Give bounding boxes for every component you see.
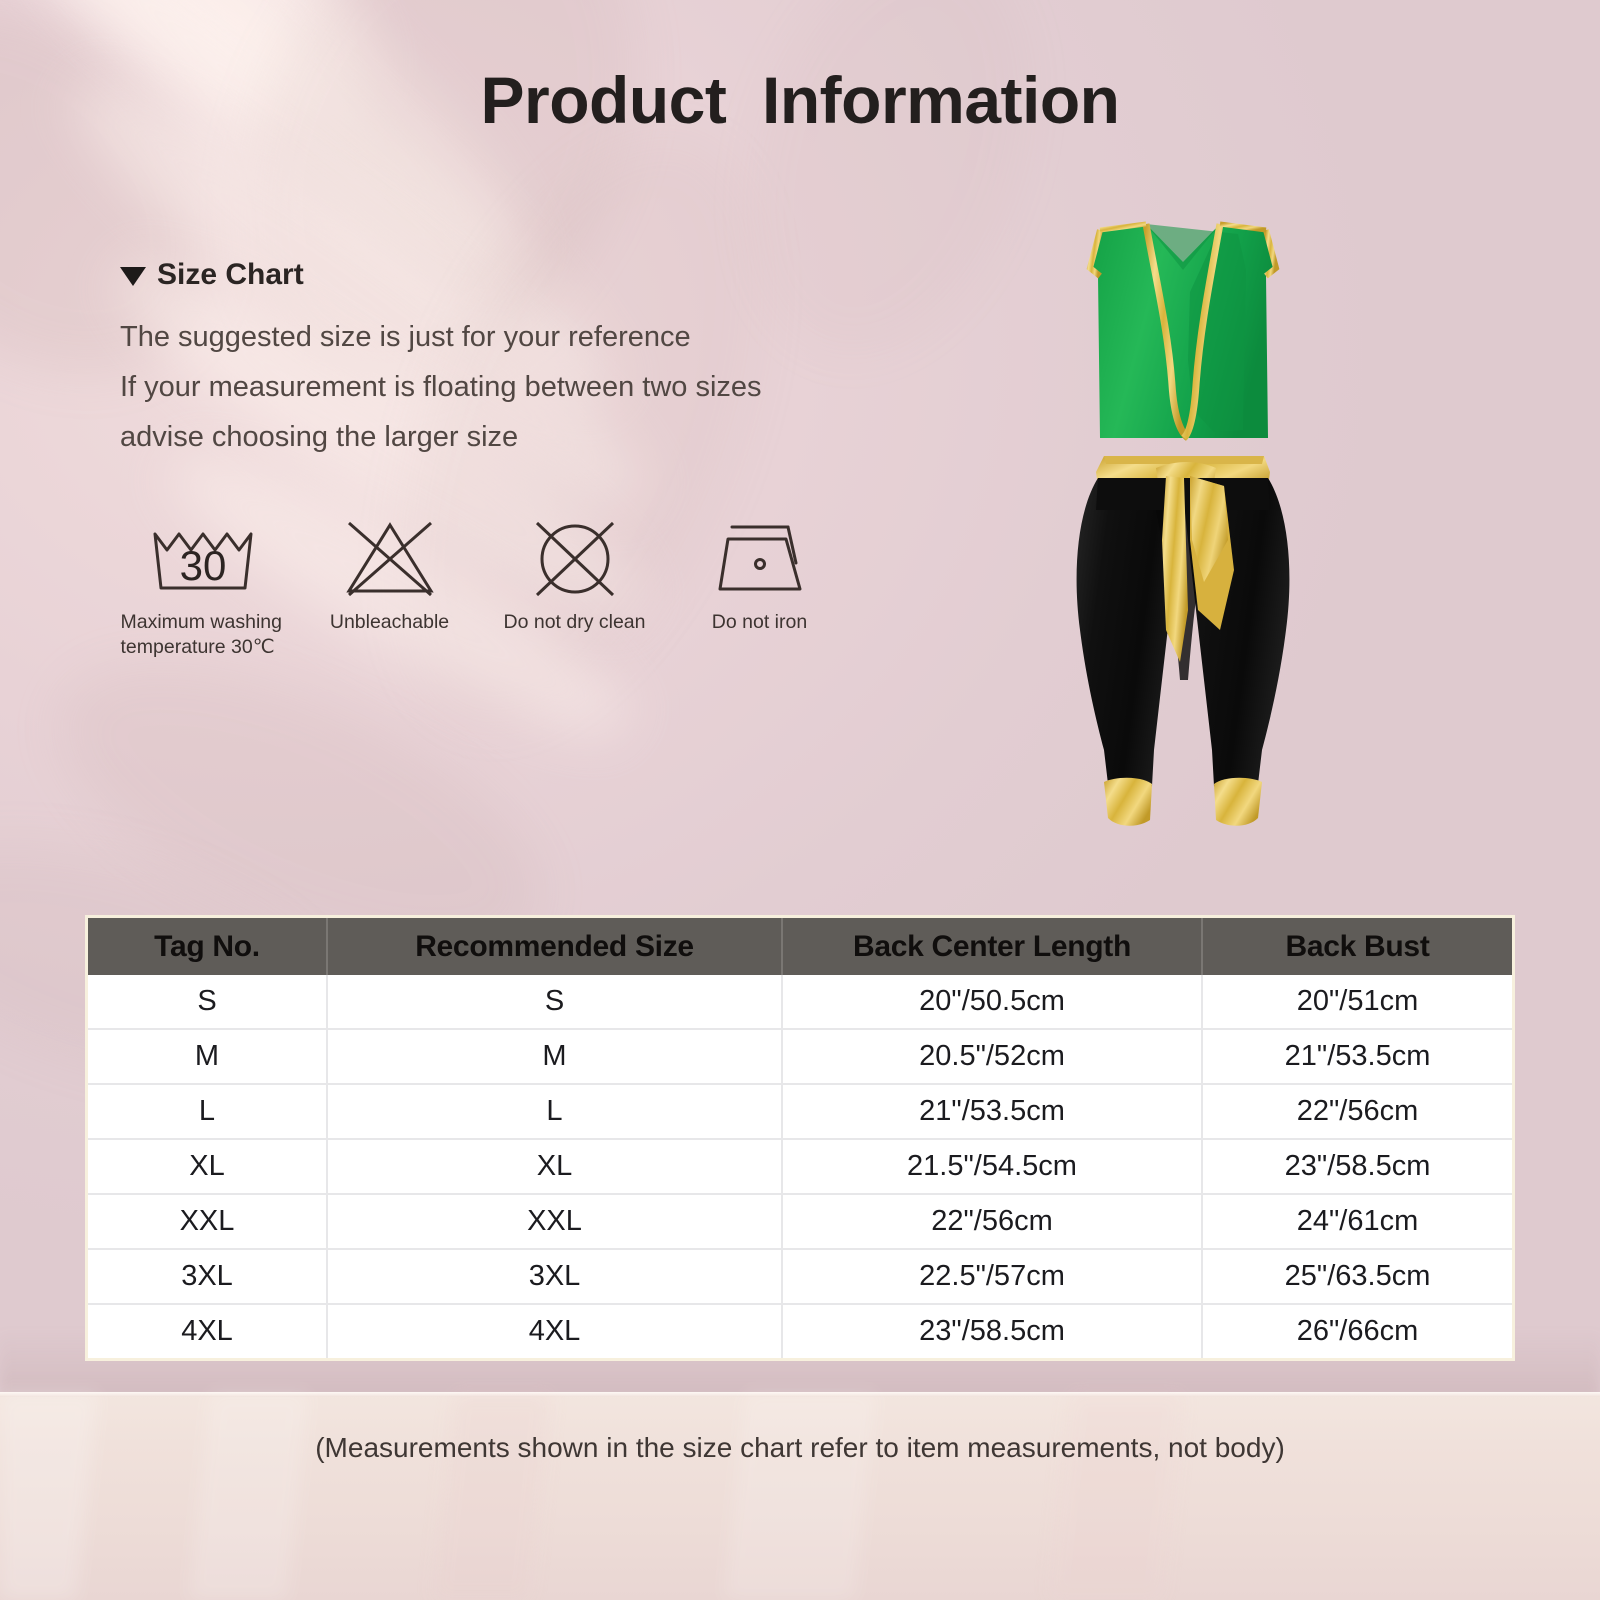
cell-recommended-size: L — [327, 1084, 782, 1139]
column-header-back-bust: Back Bust — [1202, 918, 1512, 975]
cell-recommended-size: XL — [327, 1139, 782, 1194]
care-symbol-label: Unbleachable — [330, 610, 449, 635]
care-symbol-label: Maximum washing temperature 30℃ — [121, 610, 289, 660]
cell-back-bust: 26"/66cm — [1202, 1304, 1512, 1358]
size-chart-notes: The suggested size is just for your refe… — [120, 312, 762, 462]
cell-tag-no: XL — [88, 1139, 327, 1194]
care-symbol-label: Do not dry clean — [504, 610, 646, 635]
column-header-recommended-size: Recommended Size — [327, 918, 782, 975]
cell-recommended-size: XXL — [327, 1194, 782, 1249]
cell-back-center-length: 21.5"/54.5cm — [782, 1139, 1202, 1194]
care-symbol-no-iron: Do not iron — [667, 512, 852, 635]
cell-back-center-length: 20"/50.5cm — [782, 975, 1202, 1029]
wash-tub-30-icon: 30 — [147, 512, 263, 604]
measurement-disclaimer: (Measurements shown in the size chart re… — [0, 1432, 1600, 1464]
no-bleach-triangle-icon — [335, 512, 445, 604]
costume-vest — [1088, 224, 1276, 438]
cell-tag-no: S — [88, 975, 327, 1029]
surface-texture — [0, 1392, 1600, 1600]
size-chart-table: Tag No. Recommended Size Back Center Len… — [88, 918, 1512, 1358]
care-symbol-no-dry-clean: Do not dry clean — [482, 512, 667, 635]
cell-recommended-size: M — [327, 1029, 782, 1084]
no-dry-clean-circle-icon — [523, 512, 627, 604]
cell-back-center-length: 22"/56cm — [782, 1194, 1202, 1249]
table-row: M M 20.5"/52cm 21"/53.5cm — [88, 1029, 1512, 1084]
cell-recommended-size: 3XL — [327, 1249, 782, 1304]
table-row: 4XL 4XL 23"/58.5cm 26"/66cm — [88, 1304, 1512, 1358]
note-line: advise choosing the larger size — [120, 412, 762, 462]
note-line: The suggested size is just for your refe… — [120, 312, 762, 362]
cell-tag-no: 3XL — [88, 1249, 327, 1304]
product-information-page: Product Information Size Chart The sugge… — [0, 0, 1600, 1600]
cell-tag-no: L — [88, 1084, 327, 1139]
cell-back-bust: 23"/58.5cm — [1202, 1139, 1512, 1194]
cell-recommended-size: S — [327, 975, 782, 1029]
costume-ankle-cuffs — [1104, 778, 1262, 826]
surface-edge-highlight — [0, 1392, 1600, 1397]
cell-tag-no: 4XL — [88, 1304, 327, 1358]
size-chart-toggle[interactable]: Size Chart — [120, 258, 304, 292]
triangle-down-icon — [120, 267, 146, 286]
svg-text:30: 30 — [179, 542, 226, 589]
table-row: 3XL 3XL 22.5"/57cm 25"/63.5cm — [88, 1249, 1512, 1304]
table-row: XXL XXL 22"/56cm 24"/61cm — [88, 1194, 1512, 1249]
care-symbol-label: Do not iron — [712, 610, 807, 635]
cell-tag-no: M — [88, 1029, 327, 1084]
care-symbol-wash-30: 30 Maximum washing temperature 30℃ — [112, 512, 297, 660]
cell-tag-no: XXL — [88, 1194, 327, 1249]
note-line: If your measurement is floating between … — [120, 362, 762, 412]
cell-back-bust: 24"/61cm — [1202, 1194, 1512, 1249]
table-row: L L 21"/53.5cm 22"/56cm — [88, 1084, 1512, 1139]
table-row: S S 20"/50.5cm 20"/51cm — [88, 975, 1512, 1029]
page-title: Product Information — [0, 62, 1600, 138]
cell-back-center-length: 21"/53.5cm — [782, 1084, 1202, 1139]
cell-recommended-size: 4XL — [327, 1304, 782, 1358]
cell-back-bust: 20"/51cm — [1202, 975, 1512, 1029]
cell-back-center-length: 20.5"/52cm — [782, 1029, 1202, 1084]
cell-back-center-length: 22.5"/57cm — [782, 1249, 1202, 1304]
cell-back-center-length: 23"/58.5cm — [782, 1304, 1202, 1358]
care-symbol-no-bleach: Unbleachable — [297, 512, 482, 635]
cell-back-bust: 22"/56cm — [1202, 1084, 1512, 1139]
table-header-row: Tag No. Recommended Size Back Center Len… — [88, 918, 1512, 975]
column-header-back-center-length: Back Center Length — [782, 918, 1202, 975]
column-header-tag-no: Tag No. — [88, 918, 327, 975]
iron-one-dot-icon — [708, 512, 812, 604]
cell-back-bust: 25"/63.5cm — [1202, 1249, 1512, 1304]
cell-back-bust: 21"/53.5cm — [1202, 1029, 1512, 1084]
aladdin-costume-photo — [1038, 210, 1328, 870]
care-symbols-row: 30 Maximum washing temperature 30℃ Unble… — [112, 512, 852, 660]
table-row: XL XL 21.5"/54.5cm 23"/58.5cm — [88, 1139, 1512, 1194]
size-chart-heading-label: Size Chart — [157, 258, 304, 292]
